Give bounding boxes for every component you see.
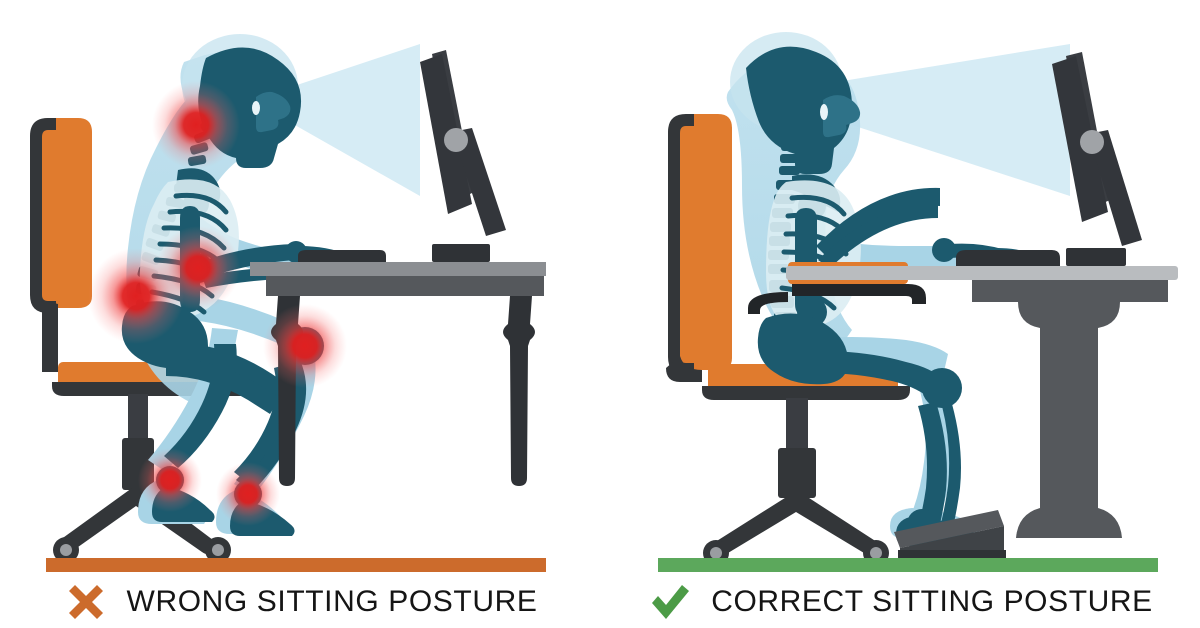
pain-point-neck [152, 81, 240, 169]
chair-cylinder-lower [778, 448, 816, 498]
pain-point-knee [263, 304, 347, 388]
floor-bar-wrong [46, 558, 546, 572]
monitor-pivot [444, 128, 468, 152]
caption-correct-label: CORRECT SITTING POSTURE [711, 587, 1153, 617]
desk-pedestal [1016, 302, 1122, 538]
ear [252, 101, 260, 115]
caption-wrong: WRONG SITTING POSTURE [0, 575, 600, 628]
keyboard-correct [956, 250, 1060, 266]
check-mark-icon [647, 579, 693, 625]
cross-mark-icon [63, 579, 109, 625]
chair-caster-left-hub [710, 547, 722, 559]
chair-caster-right-hub [212, 544, 224, 556]
pain-point-ankle-far [138, 448, 202, 512]
desk-top [786, 266, 1178, 280]
desk-leg-far [503, 296, 535, 486]
monitor-base [432, 244, 490, 262]
illustration-wrong [0, 0, 600, 575]
chair-caster-left-hub [60, 544, 72, 556]
illustration-correct [600, 0, 1200, 575]
chair-backrest [678, 114, 732, 370]
panel-correct-posture: CORRECT SITTING POSTURE [600, 0, 1200, 628]
desk-apron [972, 280, 1168, 302]
keyboard-wrong [298, 250, 386, 262]
panel-wrong-posture: WRONG SITTING POSTURE [0, 0, 600, 628]
pain-point-ankle-near [216, 462, 280, 526]
chair-caster-right-hub [870, 547, 882, 559]
caption-wrong-label: WRONG SITTING POSTURE [127, 587, 538, 617]
chair-backrest [36, 118, 92, 308]
pain-point-elbow [156, 226, 240, 310]
chair-seat-frame [42, 300, 58, 372]
ear [820, 104, 828, 120]
scene-correct [600, 0, 1200, 575]
caption-correct: CORRECT SITTING POSTURE [600, 575, 1200, 628]
scene-wrong [0, 0, 600, 575]
floor-bar-correct [658, 558, 1158, 572]
desk-apron [266, 276, 544, 296]
vision-cone [286, 44, 420, 196]
knee-joint [922, 368, 962, 408]
chair-cylinder-upper [786, 398, 808, 450]
monitor-wrong [420, 50, 506, 236]
monitor-base [1066, 248, 1126, 266]
chair-seat-base [702, 386, 910, 400]
chair-base-legs [709, 496, 884, 558]
monitor-pivot [1080, 130, 1104, 154]
chair-cylinder-upper [128, 394, 148, 440]
infographic-canvas: WRONG SITTING POSTURE [0, 0, 1200, 628]
desk-top [250, 262, 546, 276]
